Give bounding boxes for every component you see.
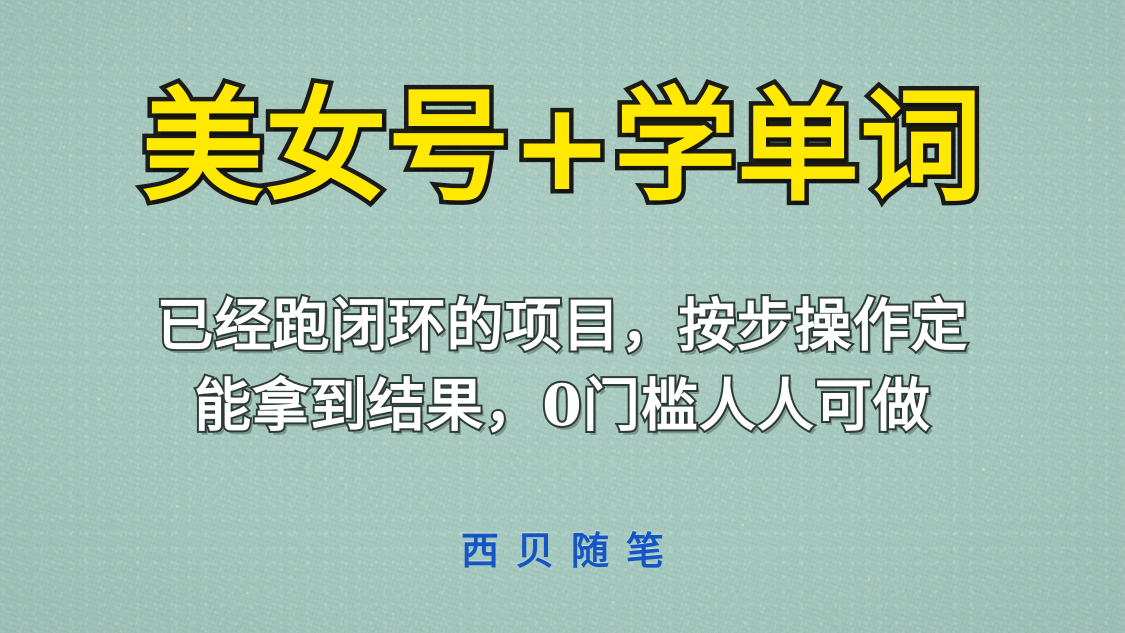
promo-card: 美女号+学单词 已经跑闭环的项目，按步操作定 能拿到结果，0门槛人人可做 西贝随… xyxy=(0,0,1125,633)
headline-block: 美女号+学单词 xyxy=(0,82,1125,214)
subtitle-line-1: 已经跑闭环的项目，按步操作定 xyxy=(0,286,1125,366)
headline-title: 美女号+学单词 xyxy=(142,82,983,214)
subtitle-block: 已经跑闭环的项目，按步操作定 能拿到结果，0门槛人人可做 xyxy=(0,286,1125,446)
author-signature: 西贝随笔 xyxy=(0,528,1125,574)
signature-block: 西贝随笔 xyxy=(0,528,1125,574)
subtitle-line-2: 能拿到结果，0门槛人人可做 xyxy=(0,366,1125,446)
